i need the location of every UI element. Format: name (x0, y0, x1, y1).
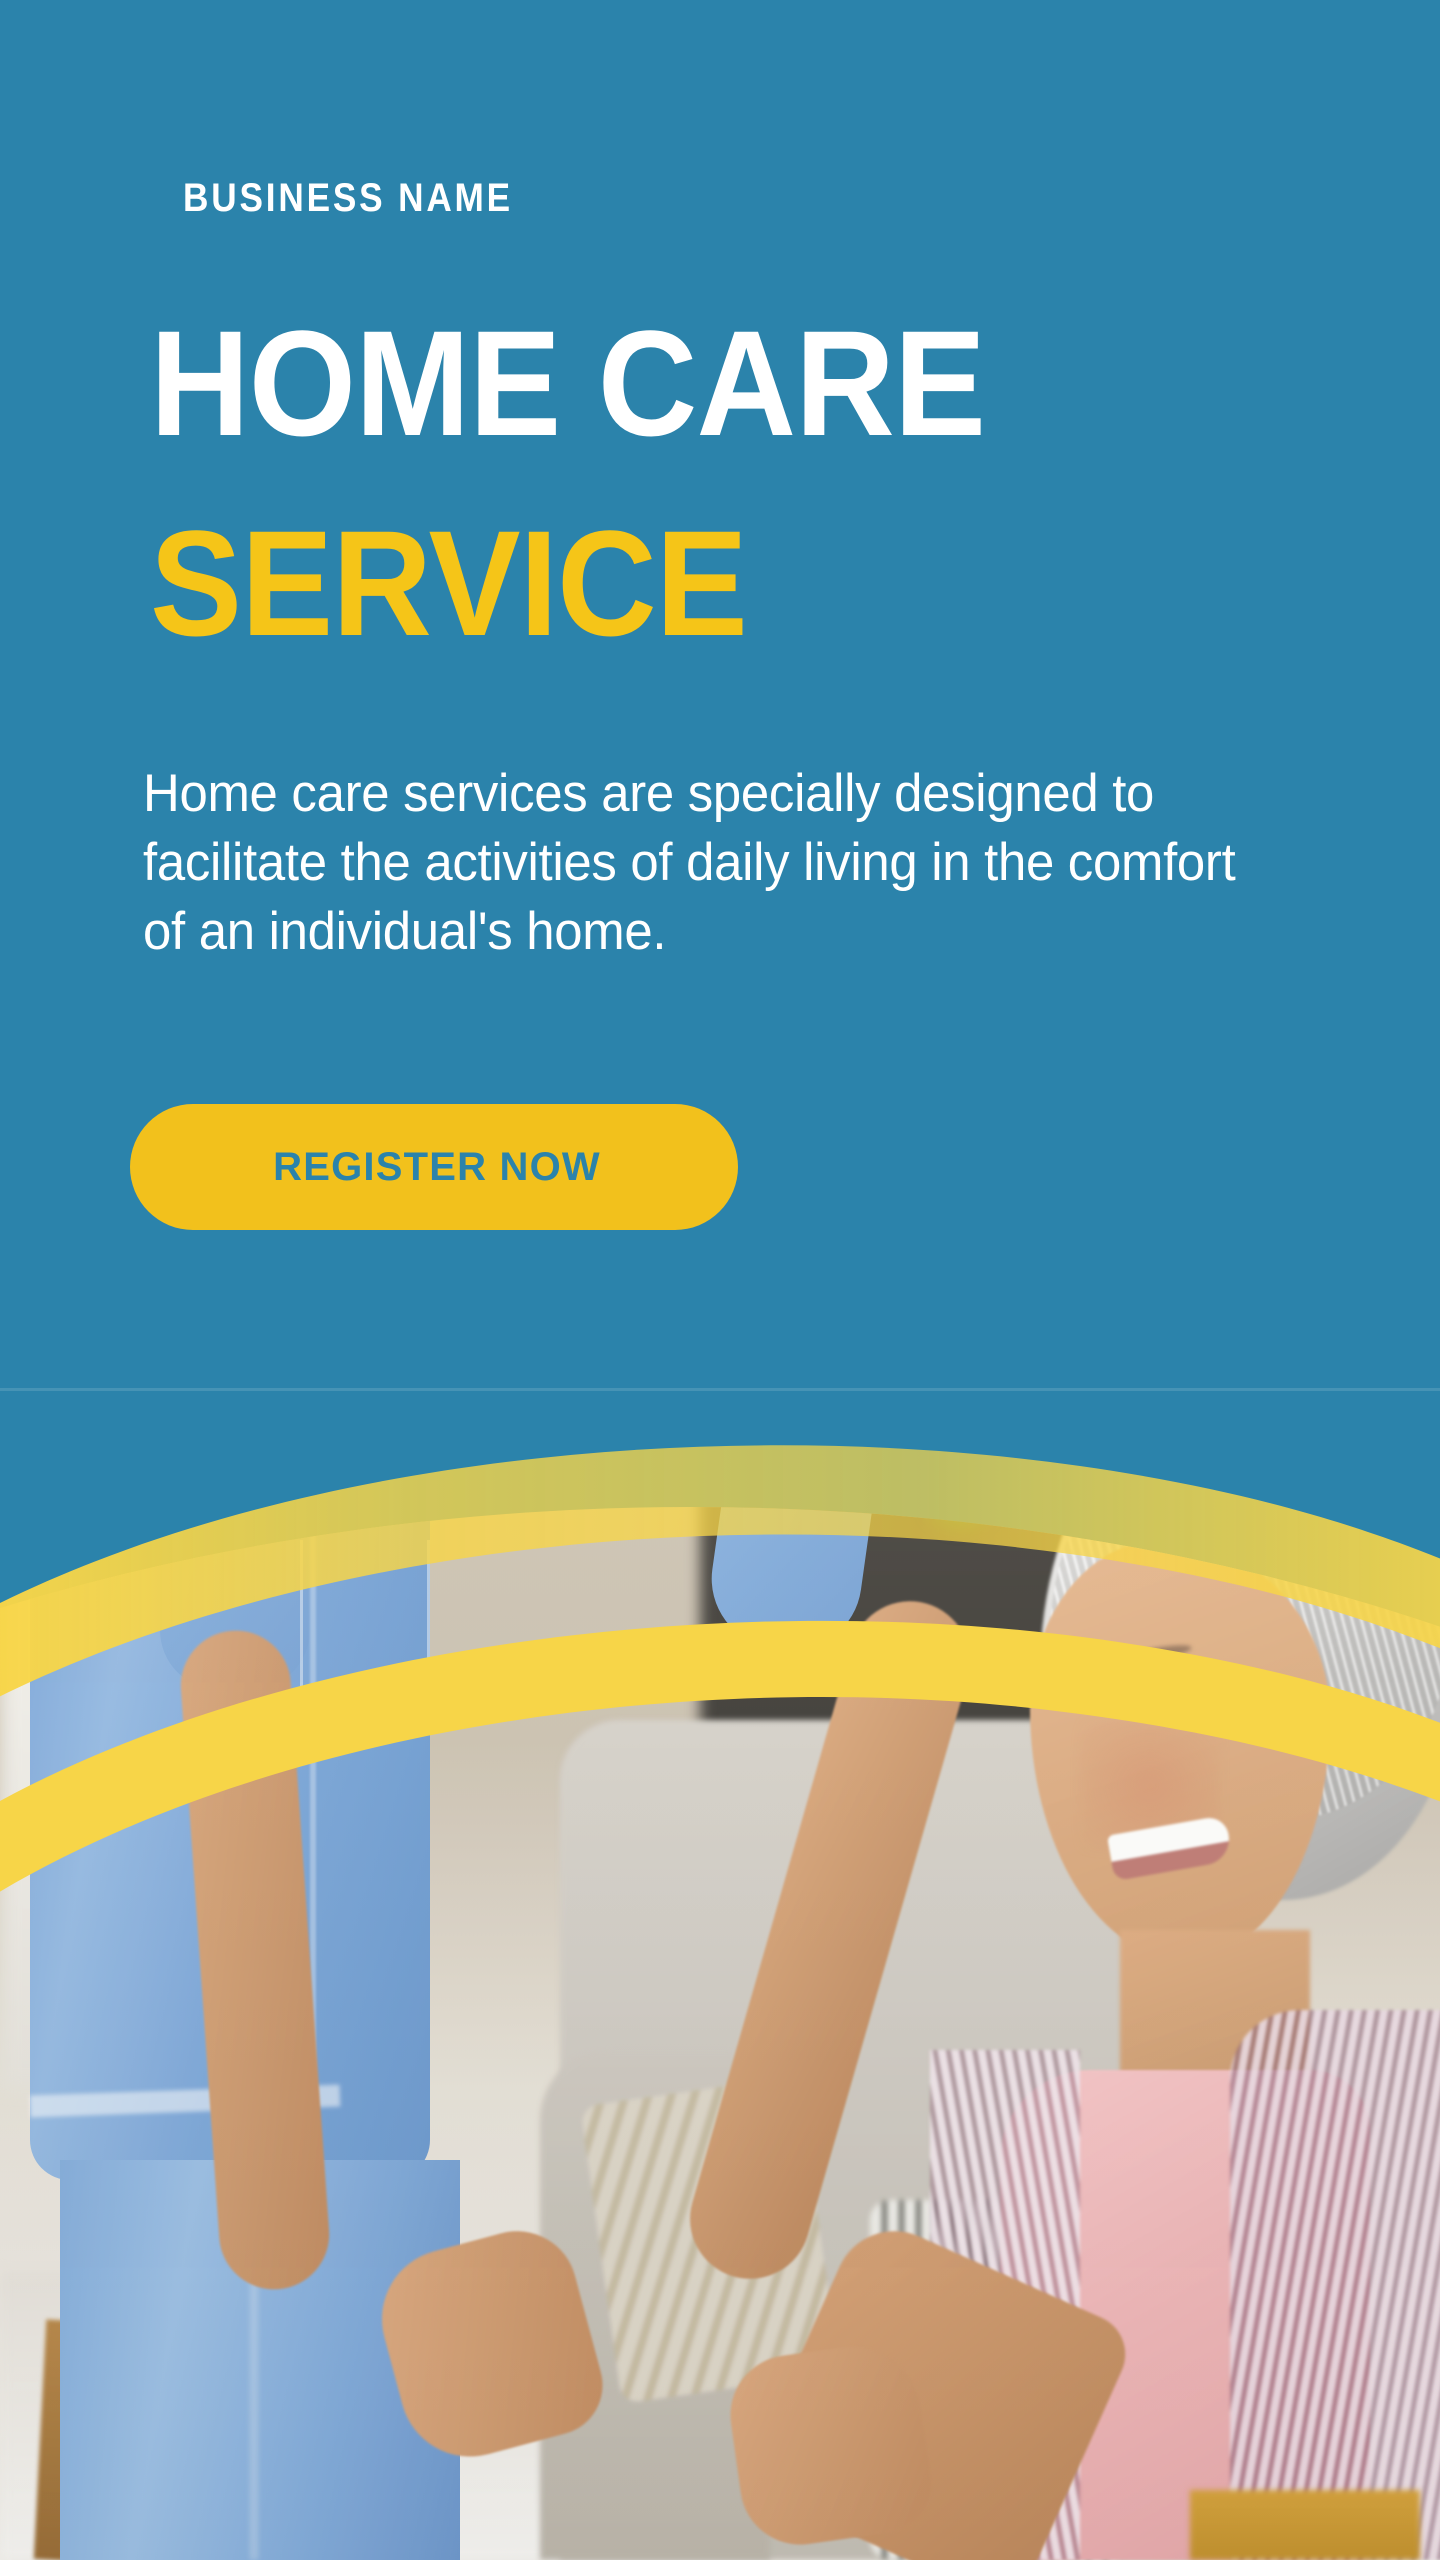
hero-section: BUSINESS NAME HOME CARE SERVICE Home car… (0, 0, 1440, 1390)
page-title: HOME CARE (150, 310, 985, 457)
photo-depth-overlay (0, 1390, 1440, 2560)
page-title-accent: SERVICE (150, 510, 747, 657)
business-name: BUSINESS NAME (183, 178, 513, 218)
care-photo (0, 1390, 1440, 2560)
poster-root: BUSINESS NAME HOME CARE SERVICE Home car… (0, 0, 1440, 2560)
section-divider (0, 1388, 1440, 1391)
hero-description: Home care services are specially designe… (143, 760, 1266, 967)
photo-section (0, 1390, 1440, 2560)
register-now-button[interactable]: REGISTER NOW (130, 1104, 738, 1230)
